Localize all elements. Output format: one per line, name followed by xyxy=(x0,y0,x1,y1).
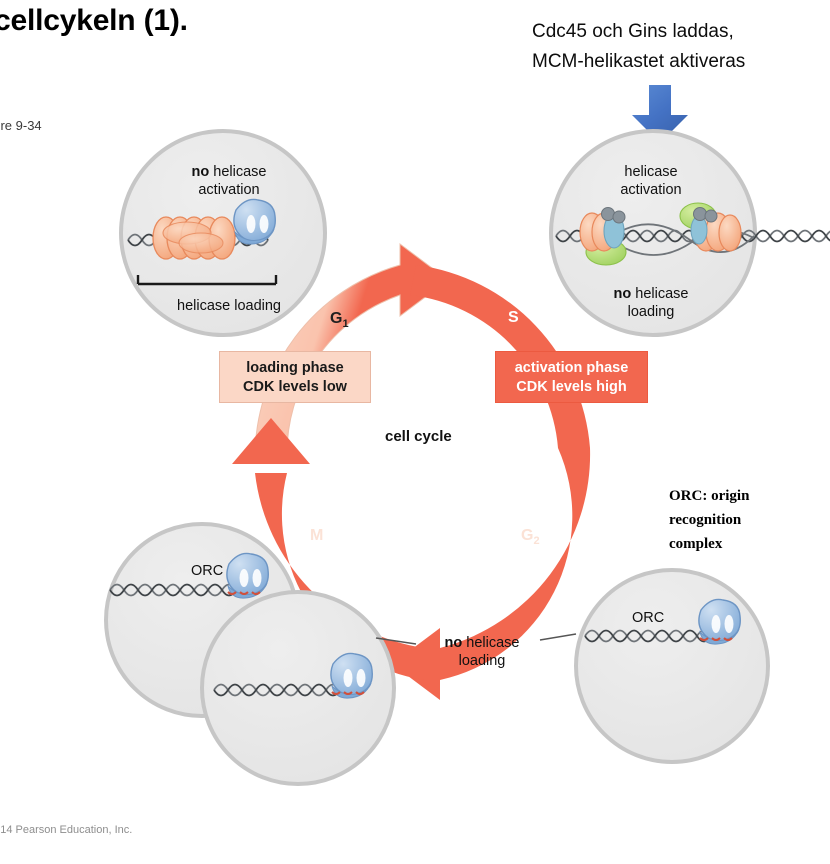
caption-helicase-loading: helicase loading xyxy=(140,297,318,315)
loading-phase-line-1: loading phase xyxy=(230,359,360,378)
activation-phase-line-2: CDK levels high xyxy=(506,378,637,397)
orc-label-bottom-right: ORC xyxy=(632,610,664,626)
loading-phase-box: loading phase CDK levels low xyxy=(219,351,371,403)
caption-top-left-upper: no helicase activation xyxy=(143,163,315,199)
caption-tr-line-1: helicase xyxy=(571,163,731,181)
phase-label-s: S xyxy=(508,309,519,327)
caption-tl-line-2: activation xyxy=(143,181,315,199)
caption-tl-rest: helicase xyxy=(209,164,266,180)
phase-label-g2: G2 xyxy=(521,527,540,547)
caption-tr-bold: no xyxy=(614,286,632,302)
orc-label-bottom-left: ORC xyxy=(191,563,223,579)
page-title: cellcykeln (1). xyxy=(0,4,188,38)
caption-tl-bold: no xyxy=(192,164,210,180)
caption-tr-line-2: activation xyxy=(571,181,731,199)
cell-cycle-diagram xyxy=(80,128,830,833)
caption-mid-rest: helicase xyxy=(462,635,519,651)
cell-cycle-center-label: cell cycle xyxy=(385,428,452,445)
caption-tr-rest: helicase xyxy=(631,286,688,302)
caption-tr-lower-line-2: loading xyxy=(566,303,736,321)
top-annotation: Cdc45 och Gins laddas, MCM-helikastet ak… xyxy=(532,17,745,77)
caption-mid-bold: no xyxy=(445,635,463,651)
activation-phase-line-1: activation phase xyxy=(506,359,637,378)
top-annotation-line-1: Cdc45 och Gins laddas, xyxy=(532,17,745,47)
phase-label-g1: G1 xyxy=(330,310,349,330)
panel-bottom-right xyxy=(576,570,768,762)
phase-label-m: M xyxy=(310,527,323,545)
panel-bottom-left xyxy=(106,524,394,784)
caption-top-right-lower: no helicase loading xyxy=(566,285,736,321)
caption-mid-line-2: loading xyxy=(418,652,546,670)
top-annotation-line-2: MCM-helikastet aktiveras xyxy=(532,47,745,77)
activation-phase-box: activation phase CDK levels high xyxy=(495,351,648,403)
caption-top-right-upper: helicase activation xyxy=(571,163,731,199)
caption-no-helicase-loading: no helicase loading xyxy=(418,634,546,670)
loading-phase-line-2: CDK levels low xyxy=(230,378,360,397)
figure-label: gure 9-34 xyxy=(0,118,42,133)
